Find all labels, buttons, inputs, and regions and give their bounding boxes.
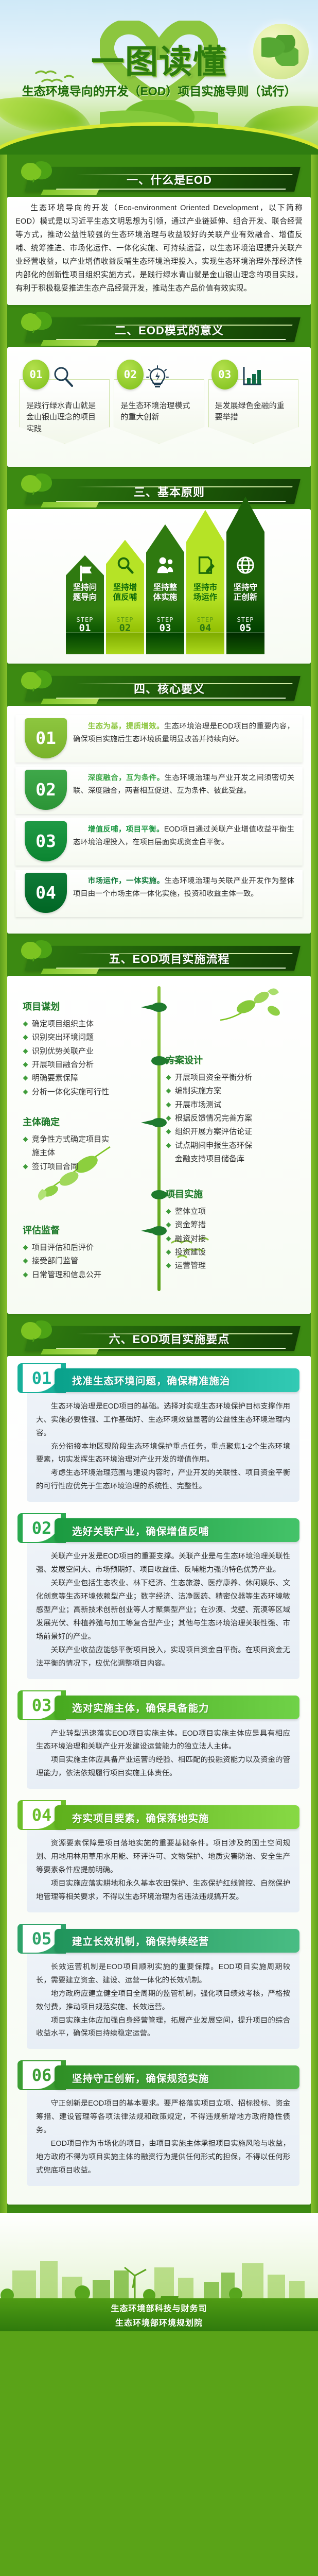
principle-step[interactable]: 坚持问 题导向STEP01 bbox=[66, 555, 104, 633]
flow-stage-item: 编制实施方案 bbox=[166, 1085, 295, 1097]
flow-stage-title: 方案设计 bbox=[166, 1053, 295, 1066]
flow-stage-item: 开展市场测试 bbox=[166, 1099, 295, 1111]
key-point-paragraph: 资源要素保障是项目落地实施的重要基础条件。项目涉及的国土空间规划、用地用林用草用… bbox=[36, 1837, 290, 1877]
core-point-number: 04 bbox=[25, 873, 67, 913]
flow-stage-item: 确定项目组织主体 bbox=[23, 1018, 152, 1030]
contract-pen-icon bbox=[196, 555, 215, 575]
flow-stage-item: 试点期间申报生态环保 bbox=[166, 1140, 295, 1151]
core-point-highlight: 市场运作，一体实施。 bbox=[88, 877, 165, 885]
step-base-shadow bbox=[186, 633, 224, 654]
key-point-paragraph: EOD项目作为市场化的项目，由项目实施主体承担项目实施风险与收益，地方政府不得为… bbox=[36, 2138, 290, 2178]
key-point-paragraph: 项目实施主体应加强自身经营管理，拓展产业发展空间，提升项目的综合收益水平，确保项… bbox=[36, 2014, 290, 2041]
card-text: 是发展绿色金融的重要举措 bbox=[215, 400, 292, 423]
step-base-shadow bbox=[146, 633, 184, 654]
meaning-card: 02 是生态环境治理模式的重大创新 bbox=[114, 368, 204, 444]
flow-node-marker bbox=[151, 1190, 167, 1199]
step-label: 坚持守 正创新 bbox=[226, 583, 264, 603]
footer-credits: 生态环境部科技与财务司 生态环境部环境规划院 bbox=[0, 2298, 318, 2331]
globe-grid-icon bbox=[236, 555, 255, 575]
key-point-header: 01找准生态环境问题，确保精准施治 bbox=[15, 1361, 303, 1394]
key-point-paragraph: 充分衔接本地区现阶段生态环境保护重点任务，重点聚焦1-2个生态环境要素，切实发挥… bbox=[36, 1440, 290, 1467]
core-point-number: 01 bbox=[25, 718, 67, 758]
hero-banner: 一图读懂 生态环境导向的开发（EOD）项目实施导则（试行） bbox=[0, 0, 318, 155]
key-point-body: 资源要素保障是项目落地实施的重要基础条件。项目涉及的国土空间规划、用地用林用草用… bbox=[27, 1828, 299, 1912]
section-title: 五、EOD项目实施流程 bbox=[28, 946, 297, 971]
definition-paragraph: 生态环境导向的开发（Eco-environment Oriented Devel… bbox=[15, 202, 303, 296]
key-point-title: 选对实施主体，确保具备能力 bbox=[55, 1696, 299, 1719]
flow-stage-item: 明确要素保障 bbox=[23, 1072, 152, 1084]
flow-stage-title: 项目谋划 bbox=[23, 999, 152, 1013]
content-frame: 一、什么是EOD 生态环境导向的开发（Eco-environment Orien… bbox=[0, 155, 318, 2213]
flow-stage-item: 施主体 bbox=[23, 1147, 152, 1159]
step-base-shadow bbox=[226, 633, 264, 654]
flow-stage-item: 根据反馈情况完善方案 bbox=[166, 1112, 295, 1124]
flow-node-marker bbox=[151, 1118, 167, 1127]
card-number: 02 bbox=[117, 360, 144, 389]
principle-steps: 坚持问 题导向STEP01坚持增 值反哺STEP02坚持整 体实施STEP03坚… bbox=[15, 514, 303, 654]
flow-stage: 方案设计开展项目资金平衡分析编制实施方案开展市场测试根据反馈情况完善方案组织开展… bbox=[166, 1053, 295, 1167]
leaf-icon bbox=[20, 668, 54, 691]
key-point-paragraph: 项目实施应落实耕地和永久基本农田保护、生态保护红线管控、自然保护地管理等相关要求… bbox=[36, 1877, 290, 1904]
section-header-6: 六、EOD项目实施要点 bbox=[7, 1314, 311, 1356]
footer-line-2: 生态环境部环境规划院 bbox=[115, 2316, 203, 2328]
flow-stage-title: 项目实施 bbox=[166, 1187, 295, 1200]
section-title: 二、EOD模式的意义 bbox=[28, 317, 297, 342]
core-point-text: 生态为基，提质增效。生态环境治理是EOD项目的重要内容，确保项目实施后生态环境质… bbox=[73, 715, 303, 762]
core-point-number: 02 bbox=[25, 770, 67, 810]
principle-step[interactable]: 坚持市 场运作STEP04 bbox=[186, 510, 224, 633]
principle-step[interactable]: 坚持增 值反哺STEP02 bbox=[106, 540, 144, 633]
flow-card: 项目谋划确定项目组织主体识别突出环境问题识别优势关联产业开展项目融合分析明确要素… bbox=[7, 976, 311, 1314]
flag-icon bbox=[75, 564, 95, 583]
lightbulb-icon bbox=[146, 365, 169, 388]
principle-step[interactable]: 坚持整 体实施STEP03 bbox=[146, 524, 184, 633]
key-point-paragraph: 考虑生态环境治理范围与建设内容时，产业开发的关联性、项目资金平衡的可行性应优先于… bbox=[36, 1467, 290, 1494]
flow-stage-item: 整体立项 bbox=[166, 1206, 295, 1217]
core-point-text: 深度融合，互为条件。生态环境治理与产业开发之间须密切关联、深度融合，两者相互促进… bbox=[73, 767, 303, 814]
magnifier-icon bbox=[115, 555, 135, 575]
flow-axis bbox=[157, 986, 161, 1291]
core-point-highlight: 深度融合，互为条件。 bbox=[88, 774, 165, 782]
core-point-row: 04市场运作，一体实施。生态环境治理与关联产业开发作为整体项目由一个市场主体一体… bbox=[15, 870, 303, 917]
key-point-paragraph: 关联产业开发是EOD项目的重要支撑。关联产业是与生态环境治理关联性强、发展空间大… bbox=[36, 1550, 290, 1577]
flow-stage-title: 评估监督 bbox=[23, 1223, 152, 1236]
step-arrow-shape: 坚持整 体实施STEP03 bbox=[146, 524, 184, 633]
principles-card: 坚持问 题导向STEP01坚持增 值反哺STEP02坚持整 体实施STEP03坚… bbox=[7, 509, 311, 664]
core-points-card: 01生态为基，提质增效。生态环境治理是EOD项目的重要内容，确保项目实施后生态环… bbox=[7, 706, 311, 934]
step-number: 03 bbox=[146, 622, 184, 634]
infographic-page: 一图读懂 生态环境导向的开发（EOD）项目实施导则（试行） 一、什么是EOD bbox=[0, 0, 318, 2331]
bar-chart-icon bbox=[240, 365, 264, 388]
step-arrow-shape: 坚持市 场运作STEP04 bbox=[186, 510, 224, 633]
core-point-number: 03 bbox=[25, 821, 67, 861]
city-icon bbox=[0, 2248, 318, 2304]
flow-stage-item: 资金筹措 bbox=[166, 1219, 295, 1231]
flow-node-marker bbox=[151, 1226, 167, 1235]
flow-stage: 主体确定竞争性方式确定项目实施主体签订项目合同 bbox=[23, 1115, 152, 1174]
magnifier-icon bbox=[51, 365, 75, 388]
footer: 生态环境部科技与财务司 生态环境部环境规划院 bbox=[0, 2213, 318, 2331]
core-point-row: 03增值反哺，项目平衡。EOD项目通过关联产业增值收益平衡生态环境治理投入，在项… bbox=[15, 818, 303, 866]
key-point-body: 产业转型迅速落实EOD项目实施主体。EOD项目实施主体应是具有相应生态环境治理和… bbox=[27, 1718, 299, 1789]
key-point: 06坚持守正创新，确保规范实施守正创新是EOD项目的基本要求。要严格落实项目立项… bbox=[15, 2058, 303, 2186]
key-point-title: 选好关联产业，确保增值反哺 bbox=[55, 1518, 299, 1542]
key-point-title: 夯实项目要素，确保落地实施 bbox=[55, 1805, 299, 1829]
hero-scene bbox=[0, 88, 318, 155]
flow-stage-item: 签订项目合同 bbox=[23, 1161, 152, 1173]
step-base-shadow bbox=[66, 633, 104, 654]
key-point-title: 建立长效机制，确保持续经营 bbox=[55, 1929, 299, 1953]
key-points-card: 01找准生态环境问题，确保精准施治生态环境治理是EOD项目的基础。选择对实现生态… bbox=[7, 1356, 311, 2205]
key-point-header: 04夯实项目要素，确保落地实施 bbox=[15, 1798, 303, 1831]
flow-stage-item: 日常管理和信息公开 bbox=[23, 1269, 152, 1281]
step-number: 02 bbox=[106, 622, 144, 634]
vine-decoration-icon bbox=[216, 982, 293, 1028]
key-point: 05建立长效机制，确保持续经营长效运营机制是EOD项目顺利实施的重要保障。EOD… bbox=[15, 1922, 303, 2049]
key-point-body: 生态环境治理是EOD项目的基础。选择对实现生态环境保护目标支撑作用大、实施必要性… bbox=[27, 1391, 299, 1502]
meaning-card: 01 是践行绿水青山就是金山银山理念的项目实践 bbox=[20, 368, 110, 444]
flow-stage-title: 主体确定 bbox=[23, 1115, 152, 1128]
people-icon bbox=[155, 555, 175, 575]
section-header-5: 五、EOD项目实施流程 bbox=[7, 934, 311, 976]
key-point-header: 05建立长效机制，确保持续经营 bbox=[15, 1922, 303, 1955]
key-point-body: 关联产业开发是EOD项目的重要支撑。关联产业是与生态环境治理关联性强、发展空间大… bbox=[27, 1541, 299, 1679]
flow-node-marker bbox=[151, 1056, 167, 1065]
step-label: 坚持整 体实施 bbox=[146, 583, 184, 603]
leaf-icon bbox=[20, 1318, 54, 1342]
meaning-card-row: 01 是践行绿水青山就是金山银山理念的项目实践 02 bbox=[15, 352, 303, 457]
leaf-icon bbox=[20, 159, 54, 182]
core-point-row: 02深度融合，互为条件。生态环境治理与产业开发之间须密切关联、深度融合，两者相互… bbox=[15, 767, 303, 814]
flow-stage-item: 开展项目融合分析 bbox=[23, 1059, 152, 1071]
step-arrow-shape: 坚持增 值反哺STEP02 bbox=[106, 540, 144, 633]
key-point-body: 长效运营机制是EOD项目顺利实施的重要保障。EOD项目实施周期较长，需要建立资金… bbox=[27, 1952, 299, 2049]
key-point-paragraph: 产业转型迅速落实EOD项目实施主体。EOD项目实施主体应是具有相应生态环境治理和… bbox=[36, 1727, 290, 1754]
flow-stage-item: 开展项目资金平衡分析 bbox=[166, 1072, 295, 1083]
key-point: 03选对实施主体，确保具备能力产业转型迅速落实EOD项目实施主体。EOD项目实施… bbox=[15, 1688, 303, 1789]
flow-stage-item: 识别突出环境问题 bbox=[23, 1031, 152, 1043]
footer-line-1: 生态环境部科技与财务司 bbox=[111, 2301, 207, 2314]
steps-stage: 坚持问 题导向STEP01坚持增 值反哺STEP02坚持整 体实施STEP03坚… bbox=[25, 514, 293, 654]
core-points-list: 01生态为基，提质增效。生态环境治理是EOD项目的重要内容，确保项目实施后生态环… bbox=[15, 711, 303, 924]
key-point-paragraph: 项目实施主体应具备产业运营的经验、相匹配的投融资能力以及资金的管理能力，依法依规… bbox=[36, 1754, 290, 1781]
flow-stage-item: 组织开展方案评估论证 bbox=[166, 1126, 295, 1138]
key-point-header: 03选对实施主体，确保具备能力 bbox=[15, 1688, 303, 1721]
leaf-icon bbox=[20, 309, 54, 333]
page-title: 一图读懂 bbox=[0, 45, 318, 78]
key-point-paragraph: 长效运营机制是EOD项目顺利实施的重要保障。EOD项目实施周期较长，需要建立资金… bbox=[36, 1961, 290, 1988]
core-point-highlight: 生态为基，提质增效。 bbox=[88, 722, 164, 731]
section-header-4: 四、核心要义 bbox=[7, 664, 311, 706]
flow-stage-item: 投资建设 bbox=[166, 1246, 295, 1258]
flow-stage-item: 融资对接 bbox=[166, 1233, 295, 1245]
eod-definition-card: 生态环境导向的开发（Eco-environment Oriented Devel… bbox=[7, 197, 311, 305]
section-header-3: 三、基本原则 bbox=[7, 467, 311, 509]
key-point: 01找准生态环境问题，确保精准施治生态环境治理是EOD项目的基础。选择对实现生态… bbox=[15, 1361, 303, 1502]
key-point-header: 02选好关联产业，确保增值反哺 bbox=[15, 1511, 303, 1544]
flow-stage: 项目谋划确定项目组织主体识别突出环境问题识别优势关联产业开展项目融合分析明确要素… bbox=[23, 999, 152, 1099]
principle-step[interactable]: 坚持守 正创新STEP05 bbox=[226, 497, 264, 633]
flow-stage-item: 竞争性方式确定项目实 bbox=[23, 1133, 152, 1145]
card-number: 01 bbox=[23, 360, 49, 389]
key-point-paragraph: 生态环境治理是EOD项目的基础。选择对实现生态环境保护目标支撑作用大、实施必要性… bbox=[36, 1400, 290, 1440]
key-point-paragraph: 关联产业收益应能够平衡项目投入，实现项目资金自平衡。在项目资金无法平衡的情况下，… bbox=[36, 1644, 290, 1671]
core-point-row: 01生态为基，提质增效。生态环境治理是EOD项目的重要内容，确保项目实施后生态环… bbox=[15, 715, 303, 762]
core-point-highlight: 增值反哺，项目平衡。 bbox=[88, 825, 164, 834]
flow-stage: 评估监督项目评估和后评价接受部门监管日常管理和信息公开 bbox=[23, 1223, 152, 1282]
step-arrow-shape: 坚持问 题导向STEP01 bbox=[66, 555, 104, 633]
flow-stage-item: 分析一体化实施可行性 bbox=[23, 1086, 152, 1098]
implementation-flow: 项目谋划确定项目组织主体识别突出环境问题识别优势关联产业开展项目融合分析明确要素… bbox=[15, 981, 303, 1304]
section-header-1: 一、什么是EOD bbox=[7, 155, 311, 197]
meaning-card: 03 是发展绿色金融的重要举措 bbox=[208, 368, 298, 444]
step-label: 坚持市 场运作 bbox=[186, 583, 224, 603]
leaf-icon bbox=[20, 471, 54, 495]
key-point-header: 06坚持守正创新，确保规范实施 bbox=[15, 2058, 303, 2091]
flow-stage-item: 运营管理 bbox=[166, 1260, 295, 1272]
key-points-list: 01找准生态环境问题，确保精准施治生态环境治理是EOD项目的基础。选择对实现生态… bbox=[15, 1361, 303, 2186]
key-point-paragraph: 地方政府应建立健全项目全周期的监管机制，强化项目绩效考核，严格按效付费，推动项目… bbox=[36, 1988, 290, 2014]
core-point-text: 增值反哺，项目平衡。EOD项目通过关联产业增值收益平衡生态环境治理投入，在项目层… bbox=[73, 818, 303, 866]
section-title: 一、什么是EOD bbox=[28, 167, 297, 192]
key-point: 02选好关联产业，确保增值反哺关联产业开发是EOD项目的重要支撑。关联产业是与生… bbox=[15, 1511, 303, 1679]
key-point-body: 守正创新是EOD项目的基本要求。要严格落实项目立项、招标投标、资金筹措、建设管理… bbox=[27, 2088, 299, 2186]
leaf-icon bbox=[20, 938, 54, 961]
card-text: 是生态环境治理模式的重大创新 bbox=[120, 400, 197, 423]
flow-stage-item: 接受部门监管 bbox=[23, 1255, 152, 1267]
key-point-paragraph: 关联产业包括生态农业、林下经济、生态旅游、医疗康养、休闲娱乐、文化创意等生态环境… bbox=[36, 1577, 290, 1644]
step-arrow-shape: 坚持守 正创新STEP05 bbox=[226, 497, 264, 633]
step-label: 坚持增 值反哺 bbox=[106, 583, 144, 603]
eod-meaning-card: 01 是践行绿水青山就是金山银山理念的项目实践 02 bbox=[7, 347, 311, 467]
section-title: 六、EOD项目实施要点 bbox=[28, 1326, 297, 1351]
flow-stage-item: 金融支持项目储备库 bbox=[166, 1153, 295, 1165]
key-point: 04夯实项目要素，确保落地实施资源要素保障是项目落地实施的重要基础条件。项目涉及… bbox=[15, 1798, 303, 1912]
flow-stage-item: 项目评估和后评价 bbox=[23, 1242, 152, 1253]
card-number: 03 bbox=[211, 360, 238, 389]
key-point-title: 坚持守正创新，确保规范实施 bbox=[55, 2065, 299, 2089]
step-label: 坚持问 题导向 bbox=[66, 583, 104, 603]
step-number: 01 bbox=[66, 622, 104, 634]
card-text: 是践行绿水青山就是金山银山理念的项目实践 bbox=[26, 400, 103, 435]
flow-node-marker bbox=[151, 1003, 167, 1012]
step-number: 04 bbox=[186, 622, 224, 634]
key-point-title: 找准生态环境问题，确保精准施治 bbox=[55, 1368, 299, 1392]
flow-stage-item: 识别优势关联产业 bbox=[23, 1045, 152, 1057]
section-title: 四、核心要义 bbox=[28, 676, 297, 701]
step-number: 05 bbox=[226, 622, 264, 634]
step-base-shadow bbox=[106, 633, 144, 654]
core-point-text: 市场运作，一体实施。生态环境治理与关联产业开发作为整体项目由一个市场主体一体化实… bbox=[73, 870, 303, 917]
key-point-paragraph: 守正创新是EOD项目的基本要求。要严格落实项目立项、招标投标、资金筹措、建设管理… bbox=[36, 2097, 290, 2138]
section-header-2: 二、EOD模式的意义 bbox=[7, 305, 311, 347]
flow-stage: 项目实施整体立项资金筹措融资对接投资建设运营管理 bbox=[166, 1187, 295, 1274]
